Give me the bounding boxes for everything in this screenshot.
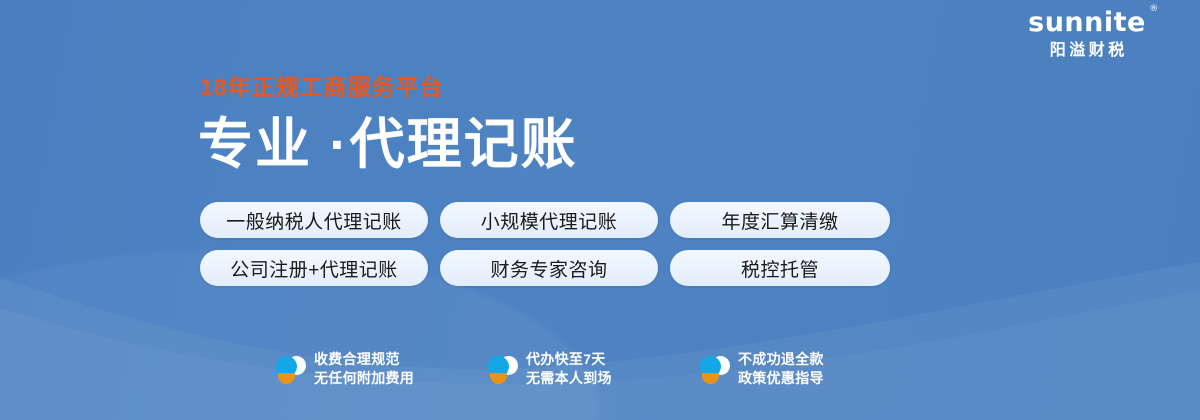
feature-text-speed: 代办快至7天 无需本人到场 bbox=[526, 350, 612, 388]
feature-line-1: 收费合理规范 bbox=[314, 350, 414, 369]
feature-text-pricing: 收费合理规范 无任何附加费用 bbox=[314, 350, 414, 388]
service-pill-row-1: 一般纳税人代理记账 小规模代理记账 年度汇算清缴 bbox=[200, 202, 890, 238]
registered-trademark-icon: ® bbox=[1149, 5, 1159, 14]
feature-item-pricing: 收费合理规范 无任何附加费用 bbox=[274, 350, 464, 388]
feature-line-1: 代办快至7天 bbox=[526, 350, 612, 369]
feature-item-speed: 代办快至7天 无需本人到场 bbox=[486, 350, 676, 388]
brand-logo[interactable]: sunnite ® 阳溢财税 bbox=[992, 8, 1182, 61]
feature-text-guarantee: 不成功退全款 政策优惠指导 bbox=[738, 350, 824, 388]
service-pill-tax-control-hosting[interactable]: 税控托管 bbox=[670, 250, 890, 286]
feature-line-1: 不成功退全款 bbox=[738, 350, 824, 369]
feature-item-guarantee: 不成功退全款 政策优惠指导 bbox=[698, 350, 888, 388]
logo-wordmark: sunnite ® bbox=[1028, 8, 1146, 38]
service-pill-row-2: 公司注册+代理记账 财务专家咨询 税控托管 bbox=[200, 250, 890, 286]
two-circles-icon bbox=[698, 352, 732, 386]
service-pill-group: 一般纳税人代理记账 小规模代理记账 年度汇算清缴 公司注册+代理记账 财务专家咨… bbox=[200, 202, 890, 298]
logo-wordmark-text: sunnite bbox=[1028, 7, 1146, 38]
feature-line-2: 无需本人到场 bbox=[526, 369, 612, 388]
promo-banner: sunnite ® 阳溢财税 18年正规工商服务平台 专业 ·代理记账 一般纳税… bbox=[0, 0, 1200, 420]
feature-line-2: 无任何附加费用 bbox=[314, 369, 414, 388]
feature-line-2: 政策优惠指导 bbox=[738, 369, 824, 388]
service-pill-annual-settlement[interactable]: 年度汇算清缴 bbox=[670, 202, 890, 238]
service-pill-expert-consulting[interactable]: 财务专家咨询 bbox=[440, 250, 658, 286]
service-pill-company-registration[interactable]: 公司注册+代理记账 bbox=[200, 250, 428, 286]
hero-kicker: 18年正规工商服务平台 bbox=[200, 74, 444, 100]
two-circles-icon bbox=[486, 352, 520, 386]
logo-subtitle: 阳溢财税 bbox=[992, 41, 1182, 61]
service-pill-general-taxpayer[interactable]: 一般纳税人代理记账 bbox=[200, 202, 428, 238]
two-circles-icon bbox=[274, 352, 308, 386]
feature-strip: 收费合理规范 无任何附加费用 代办快至7天 无需本人到场 不成功退全款 bbox=[274, 350, 888, 388]
hero-headline: 专业 ·代理记账 bbox=[198, 113, 578, 175]
service-pill-small-scale[interactable]: 小规模代理记账 bbox=[440, 202, 658, 238]
